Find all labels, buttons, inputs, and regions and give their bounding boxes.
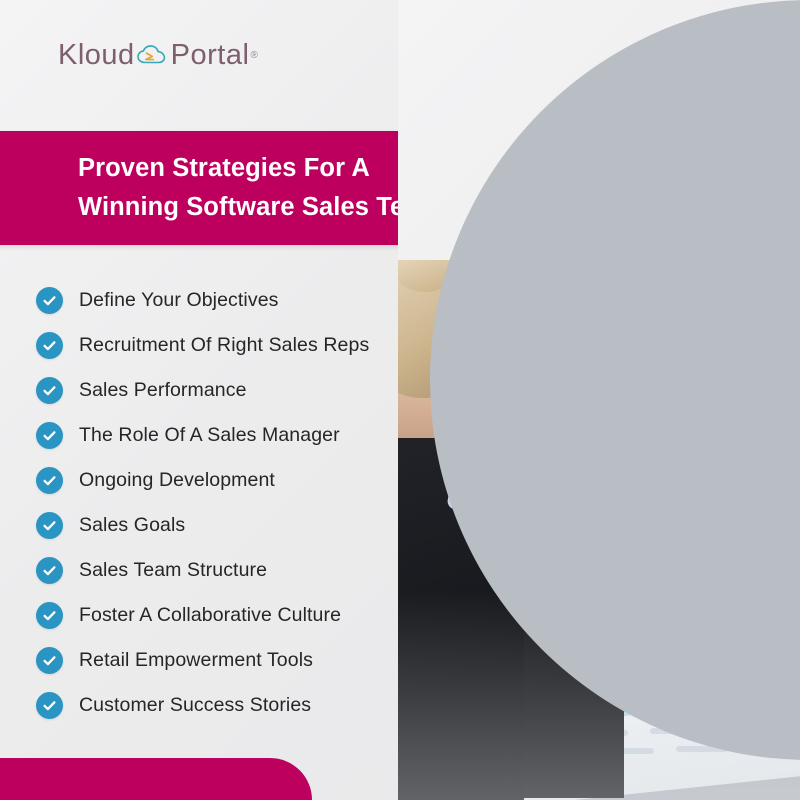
check-circle-icon [36,332,63,359]
checklist-item-label: Sales Performance [79,379,247,402]
list-item[interactable]: Sales Performance [36,368,396,413]
checklist-item-label: Sales Goals [79,514,185,537]
list-item[interactable]: Sales Team Structure [36,548,396,593]
cloud-icon [136,43,170,67]
checklist-item-label: Recruitment Of Right Sales Reps [79,334,369,357]
registered-trademark-icon: ® [250,50,257,61]
list-item[interactable]: The Role Of A Sales Manager [36,413,396,458]
list-item[interactable]: Define Your Objectives [36,278,396,323]
list-item[interactable]: Foster A Collaborative Culture [36,593,396,638]
check-circle-icon [36,647,63,674]
logo-text-portal: Portal [171,39,250,72]
list-item[interactable]: Recruitment Of Right Sales Reps [36,323,396,368]
check-circle-icon [36,422,63,449]
checklist-item-label: Foster A Collaborative Culture [79,604,341,627]
poster-canvas: Kloud Portal ® Proven Strategies For A W… [0,0,800,800]
checklist-item-label: The Role Of A Sales Manager [79,424,340,447]
list-item[interactable]: Sales Goals [36,503,396,548]
checklist-item-label: Define Your Objectives [79,289,279,312]
photo-circle-mask [398,0,800,260]
checklist: Define Your Objectives Recruitment Of Ri… [36,278,396,728]
check-circle-icon [36,287,63,314]
check-circle-icon [36,377,63,404]
list-item[interactable]: Customer Success Stories [36,683,396,728]
list-item[interactable]: Ongoing Development [36,458,396,503]
bottom-accent-bar [0,758,312,800]
check-circle-icon [36,602,63,629]
list-item[interactable]: Retail Empowerment Tools [36,638,396,683]
brand-logo[interactable]: Kloud Portal ® [58,38,258,72]
check-circle-icon [36,512,63,539]
check-circle-icon [36,557,63,584]
checklist-item-label: Ongoing Development [79,469,275,492]
meeting-photo [398,0,800,800]
checklist-item-label: Retail Empowerment Tools [79,649,313,672]
checklist-item-label: Sales Team Structure [79,559,267,582]
checklist-item-label: Customer Success Stories [79,694,311,717]
logo-text-kloud: Kloud [58,39,135,72]
check-circle-icon [36,467,63,494]
check-circle-icon [36,692,63,719]
